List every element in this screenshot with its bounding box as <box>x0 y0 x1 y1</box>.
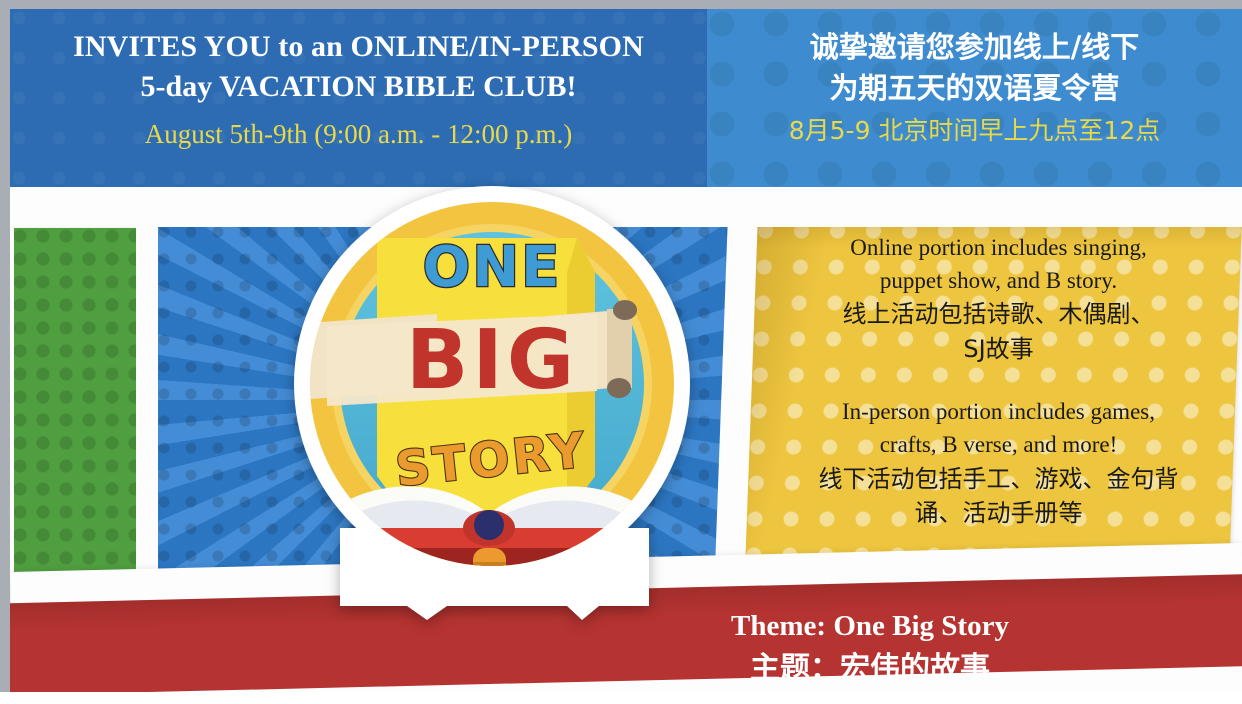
inperson-en-line1: In-person portion includes games, <box>842 396 1155 429</box>
header-banner: INVITES YOU to an ONLINE/IN-PERSON 5-day… <box>10 9 1242 187</box>
header-chinese-text: 诚挚邀请您参加线上/线下 为期五天的双语夏令营 8月5-9 北京时间早上九点至1… <box>707 27 1242 150</box>
online-en-line1: Online portion includes singing, <box>850 232 1146 265</box>
inperson-en-line2: crafts, B verse, and more! <box>880 429 1118 462</box>
window-bottom-edge <box>0 692 1242 704</box>
info-text-block: Online portion includes singing, puppet … <box>755 226 1242 571</box>
window-left-edge <box>0 0 10 704</box>
frame-divider-green-blue <box>136 187 158 587</box>
one-big-story-logo: ONE BIG STORY <box>277 176 707 620</box>
online-zh-line1: 线上活动包括诗歌、木偶剧、 <box>843 297 1155 332</box>
theme-text-block: Theme: One Big Story 主题：宏伟的故事 <box>560 608 1180 690</box>
inperson-zh-line1: 线下活动包括手工、游戏、金句背 <box>819 462 1179 497</box>
inperson-zh-line2: 诵、活动手册等 <box>915 496 1083 531</box>
header-en-dates: August 5th-9th (9:00 a.m. - 12:00 p.m.) <box>10 115 707 154</box>
frame-left-bar <box>10 187 14 587</box>
online-zh-line2: SJ故事 <box>963 332 1033 367</box>
header-zh-line2: 为期五天的双语夏令营 <box>707 68 1242 109</box>
logo-word-one: ONE <box>423 235 562 300</box>
header-english-text: INVITES YOU to an ONLINE/IN-PERSON 5-day… <box>10 27 707 154</box>
header-zh-dates: 8月5-9 北京时间早上九点至12点 <box>707 113 1242 149</box>
theme-zh: 主题：宏伟的故事 <box>560 648 1180 690</box>
flyer-canvas: INVITES YOU to an ONLINE/IN-PERSON 5-day… <box>0 0 1242 704</box>
logo-word-big: BIG <box>406 313 578 408</box>
header-en-line2: 5-day VACATION BIBLE CLUB! <box>10 67 707 107</box>
green-decor-panel <box>12 228 138 573</box>
online-en-line2: puppet show, and B story. <box>880 265 1117 298</box>
header-zh-line1: 诚挚邀请您参加线上/线下 <box>707 27 1242 68</box>
window-top-edge <box>0 0 1242 9</box>
header-en-line1: INVITES YOU to an ONLINE/IN-PERSON <box>10 27 707 67</box>
